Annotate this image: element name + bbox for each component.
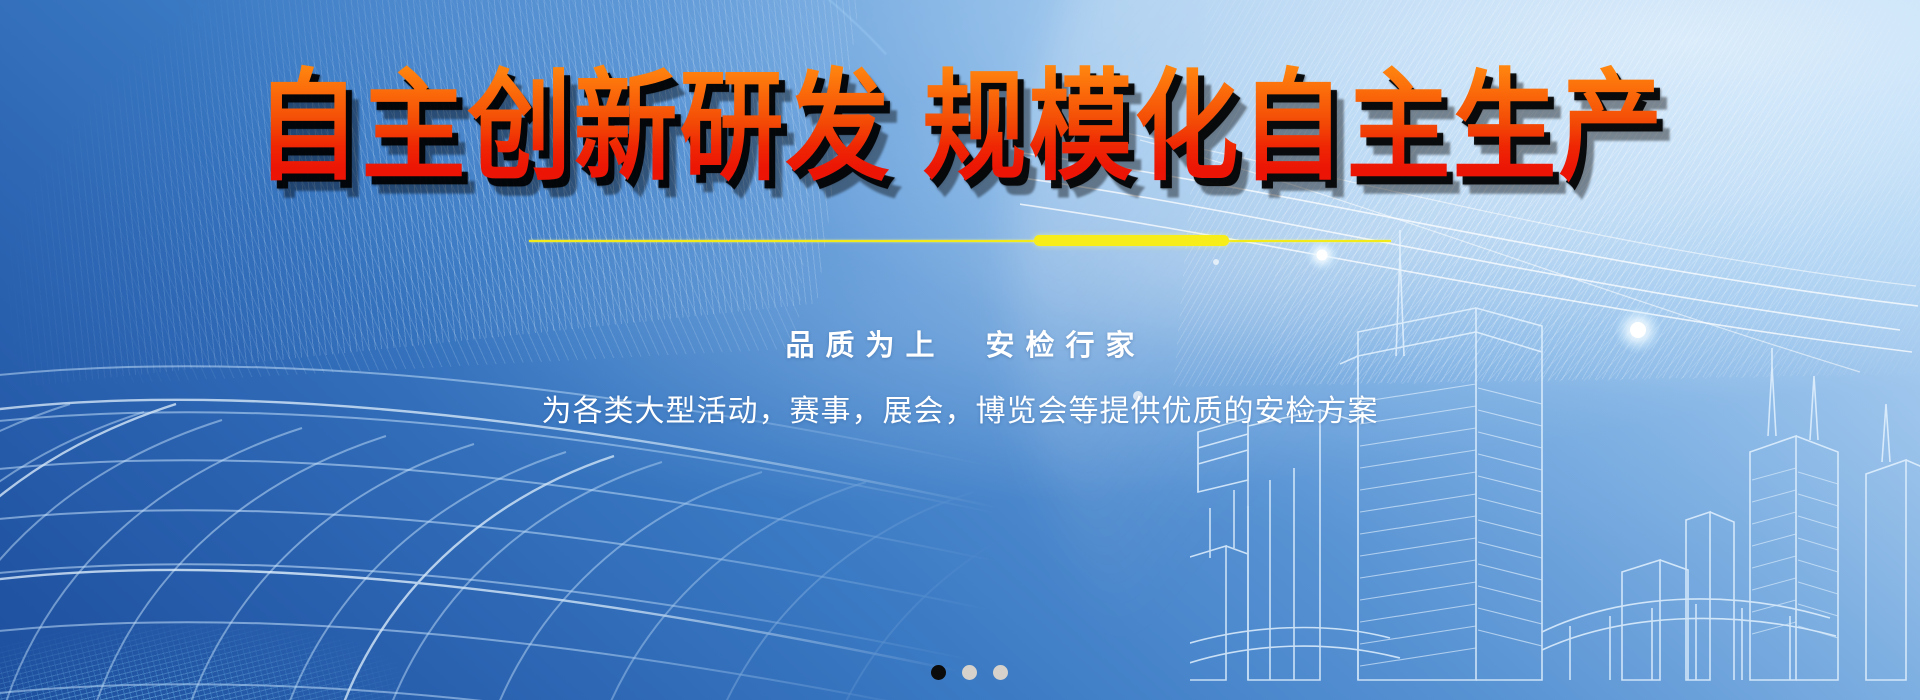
carousel-dot-1[interactable] — [931, 665, 946, 680]
hero-banner: 自主创新研发 规模化自主生产 品质为上 安检行家 为各类大型活动，赛事，展会，博… — [0, 0, 1920, 700]
banner-content: 自主创新研发 规模化自主生产 品质为上 安检行家 为各类大型活动，赛事，展会，博… — [0, 0, 1920, 700]
divider — [529, 234, 1391, 248]
banner-subtitle-secondary: 为各类大型活动，赛事，展会，博览会等提供优质的安检方案 — [542, 386, 1379, 430]
carousel-dot-3[interactable] — [993, 665, 1008, 680]
banner-subtitle-primary: 品质为上 安检行家 — [774, 322, 1145, 364]
divider-hairline — [529, 240, 1391, 242]
banner-headline: 自主创新研发 规模化自主生产 — [256, 62, 1665, 195]
carousel-dots — [0, 665, 1920, 680]
divider-accent-bar — [1034, 235, 1229, 246]
carousel-dot-2[interactable] — [962, 665, 977, 680]
